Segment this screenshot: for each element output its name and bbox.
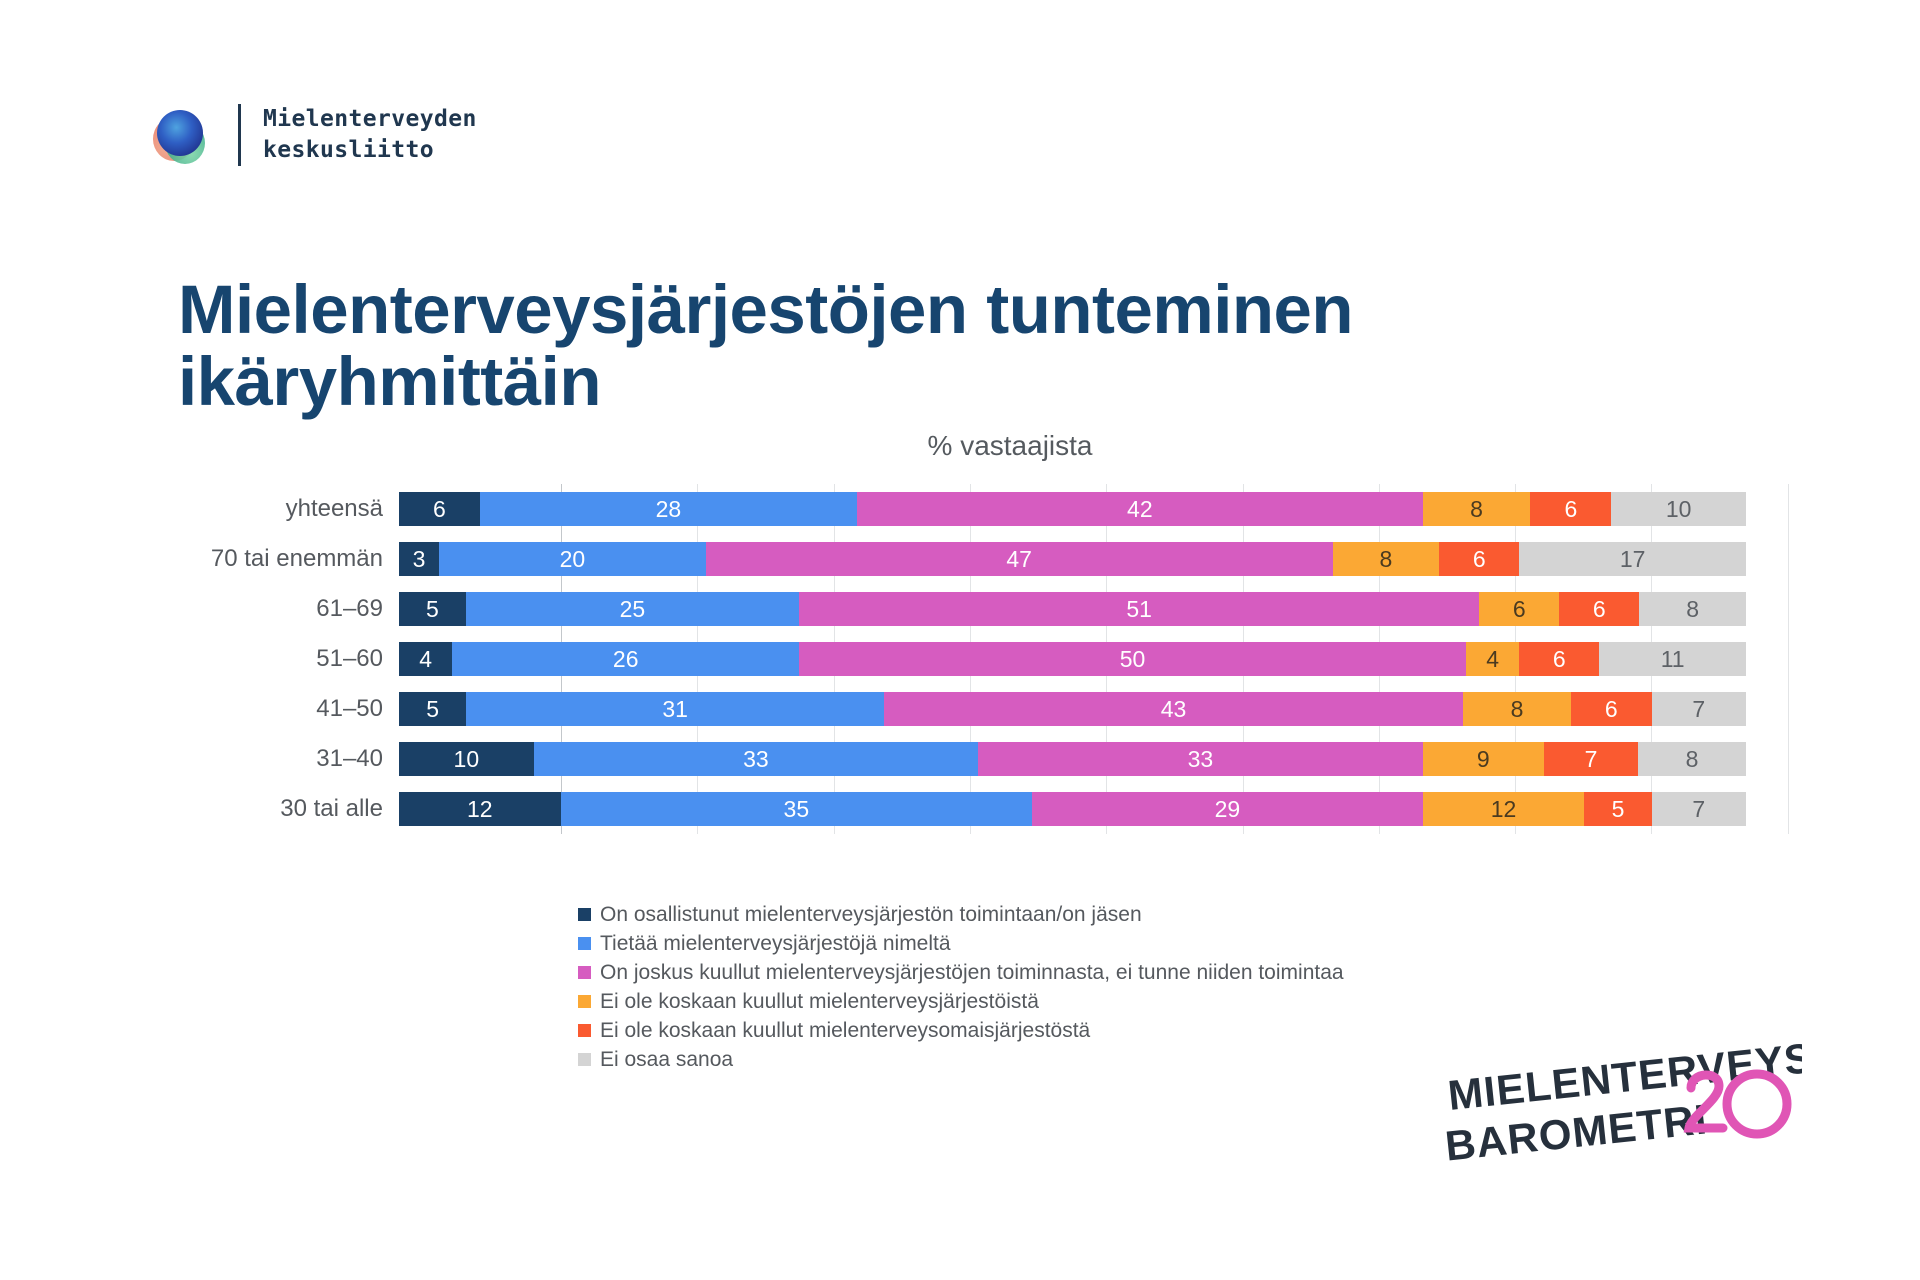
- chart-row-label: 31–40: [178, 745, 399, 773]
- bar-segment[interactable]: 11: [1599, 642, 1746, 676]
- bar-segment[interactable]: 6: [1519, 642, 1599, 676]
- bar-segment[interactable]: 12: [399, 792, 561, 826]
- legend-label: Tietää mielenterveysjärjestöjä nimeltä: [600, 932, 951, 956]
- bar-segment[interactable]: 29: [1032, 792, 1423, 826]
- legend-swatch-icon: [578, 1053, 591, 1066]
- bar-segment[interactable]: 50: [799, 642, 1466, 676]
- bar-segment[interactable]: 7: [1652, 792, 1746, 826]
- bar-segment[interactable]: 8: [1423, 492, 1531, 526]
- gridline-90: [1788, 484, 1789, 834]
- bar-segment[interactable]: 7: [1544, 742, 1638, 776]
- legend-label: Ei ole koskaan kuullut mielenterveysomai…: [600, 1019, 1090, 1043]
- bar-segment[interactable]: 35: [561, 792, 1032, 826]
- chart-row-label: 70 tai enemmän: [178, 545, 399, 573]
- bar-segment[interactable]: 4: [1466, 642, 1519, 676]
- bar-segment[interactable]: 5: [1584, 792, 1651, 826]
- bar-segment[interactable]: 4: [399, 642, 452, 676]
- chart-subtitle: % vastaajista: [100, 430, 1920, 462]
- chart-legend: On osallistunut mielenterveysjärjestön t…: [578, 900, 1344, 1074]
- page-title-line2: ikäryhmittäin: [178, 346, 1798, 418]
- chart-container: % vastaajista yhteensä62842861070 tai en…: [0, 430, 1920, 834]
- legend-item[interactable]: Ei ole koskaan kuullut mielenterveysomai…: [578, 1016, 1344, 1045]
- stacked-bar[interactable]: 103333978: [399, 742, 1746, 776]
- bar-segment[interactable]: 28: [480, 492, 857, 526]
- page-title-line1: Mielenterveysjärjestöjen tunteminen: [178, 274, 1798, 346]
- legend-label: Ei osaa sanoa: [600, 1048, 733, 1072]
- brand-name-line1: Mielenterveyden: [263, 104, 477, 135]
- stacked-bar[interactable]: 426504611: [399, 642, 1746, 676]
- stacked-bar[interactable]: 52551668: [399, 592, 1746, 626]
- bar-segment[interactable]: 33: [534, 742, 979, 776]
- bar-segment[interactable]: 10: [399, 742, 534, 776]
- mielenterveysbarometri-logo: MIELENTERVEYS- BAROMETRI: [1442, 1030, 1802, 1180]
- chart-row-label: 51–60: [178, 645, 399, 673]
- bar-segment[interactable]: 6: [1479, 592, 1559, 626]
- stacked-bar[interactable]: 53143867: [399, 692, 1746, 726]
- bar-segment[interactable]: 6: [1439, 542, 1519, 576]
- legend-item[interactable]: Tietää mielenterveysjärjestöjä nimeltä: [578, 929, 1344, 958]
- legend-swatch-icon: [578, 995, 591, 1008]
- legend-item[interactable]: On osallistunut mielenterveysjärjestön t…: [578, 900, 1344, 929]
- legend-label: Ei ole koskaan kuullut mielenterveysjärj…: [600, 990, 1039, 1014]
- chart-row-label: yhteensä: [178, 495, 399, 523]
- brand-name-line2: keskusliitto: [263, 135, 477, 166]
- bar-segment[interactable]: 42: [857, 492, 1423, 526]
- bar-segment[interactable]: 33: [978, 742, 1423, 776]
- brand-header: Mielenterveyden keskusliitto: [148, 96, 477, 174]
- bar-segment[interactable]: 6: [1571, 692, 1652, 726]
- chart-row-label: 61–69: [178, 595, 399, 623]
- legend-swatch-icon: [578, 966, 591, 979]
- bar-segment[interactable]: 12: [1423, 792, 1585, 826]
- stacked-bar[interactable]: 1235291257: [399, 792, 1746, 826]
- mtkl-orb-logo-icon: [148, 103, 212, 167]
- legend-label: On osallistunut mielenterveysjärjestön t…: [600, 903, 1142, 927]
- bar-segment[interactable]: 47: [706, 542, 1333, 576]
- bar-segment[interactable]: 5: [399, 692, 466, 726]
- bar-segment[interactable]: 5: [399, 592, 466, 626]
- bar-segment[interactable]: 17: [1519, 542, 1746, 576]
- bar-segment[interactable]: 7: [1652, 692, 1746, 726]
- legend-label: On joskus kuullut mielenterveysjärjestöj…: [600, 961, 1344, 985]
- bar-segment[interactable]: 9: [1423, 742, 1544, 776]
- bar-segment[interactable]: 6: [399, 492, 480, 526]
- brand-name: Mielenterveyden keskusliitto: [263, 104, 477, 165]
- bar-segment[interactable]: 3: [399, 542, 439, 576]
- bar-segment[interactable]: 25: [466, 592, 799, 626]
- chart-plot-area: yhteensä62842861070 tai enemmän320478617…: [178, 484, 1746, 834]
- bar-segment[interactable]: 8: [1463, 692, 1571, 726]
- legend-item[interactable]: Ei osaa sanoa: [578, 1045, 1344, 1074]
- bar-segment[interactable]: 26: [452, 642, 799, 676]
- bar-segment[interactable]: 10: [1611, 492, 1746, 526]
- bar-segment[interactable]: 43: [884, 692, 1463, 726]
- legend-item[interactable]: Ei ole koskaan kuullut mielenterveysjärj…: [578, 987, 1344, 1016]
- legend-swatch-icon: [578, 937, 591, 950]
- bar-segment[interactable]: 6: [1559, 592, 1639, 626]
- legend-swatch-icon: [578, 1024, 591, 1037]
- stacked-bar[interactable]: 320478617: [399, 542, 1746, 576]
- brand-divider: [238, 104, 241, 166]
- chart-row-label: 30 tai alle: [178, 795, 399, 823]
- bar-segment[interactable]: 8: [1639, 592, 1746, 626]
- bar-segment[interactable]: 8: [1333, 542, 1440, 576]
- bar-segment[interactable]: 8: [1638, 742, 1746, 776]
- bar-segment[interactable]: 20: [439, 542, 706, 576]
- bar-segment[interactable]: 6: [1530, 492, 1611, 526]
- page-title: Mielenterveysjärjestöjen tunteminen ikär…: [178, 274, 1798, 418]
- chart-row-label: 41–50: [178, 695, 399, 723]
- legend-item[interactable]: On joskus kuullut mielenterveysjärjestöj…: [578, 958, 1344, 987]
- legend-swatch-icon: [578, 908, 591, 921]
- bar-segment[interactable]: 31: [466, 692, 884, 726]
- bar-segment[interactable]: 51: [799, 592, 1479, 626]
- stacked-bar[interactable]: 628428610: [399, 492, 1746, 526]
